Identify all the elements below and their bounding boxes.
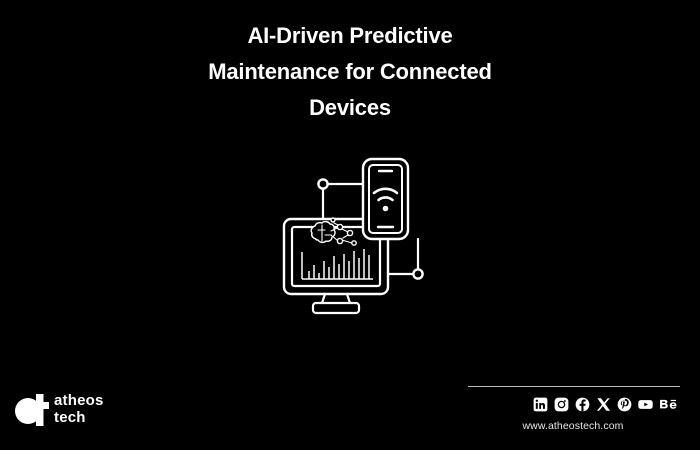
- website-url[interactable]: www.atheostech.com: [468, 420, 680, 432]
- atheos-at-monogram-icon: [14, 390, 50, 428]
- logo-word-line-1: atheos: [54, 392, 104, 409]
- connected-devices-illustration: [278, 155, 433, 315]
- brand-logo-wordmark: atheos tech: [54, 392, 104, 426]
- social-icons-row: [468, 397, 680, 412]
- page-title: AI-Driven Predictive Maintenance for Con…: [0, 18, 700, 126]
- connector-node-top-left: [318, 179, 327, 188]
- title-line-1: AI-Driven Predictive: [0, 18, 700, 54]
- footer-divider: [468, 386, 680, 387]
- pinterest-icon[interactable]: [617, 397, 632, 412]
- logo-word-line-2: tech: [54, 409, 104, 426]
- slide-canvas: AI-Driven Predictive Maintenance for Con…: [0, 0, 700, 450]
- instagram-icon[interactable]: [554, 397, 569, 412]
- connector-node-bottom-right: [413, 269, 422, 278]
- x-twitter-icon[interactable]: [596, 397, 611, 412]
- brand-logo[interactable]: atheos tech: [14, 390, 104, 428]
- smartphone: [363, 159, 408, 239]
- title-line-2: Maintenance for Connected: [0, 54, 700, 90]
- youtube-icon[interactable]: [638, 397, 653, 412]
- behance-icon[interactable]: [659, 397, 678, 412]
- title-line-3: Devices: [0, 90, 700, 126]
- footer-social-block: www.atheostech.com: [468, 386, 680, 432]
- facebook-icon[interactable]: [575, 397, 590, 412]
- linkedin-icon[interactable]: [533, 397, 548, 412]
